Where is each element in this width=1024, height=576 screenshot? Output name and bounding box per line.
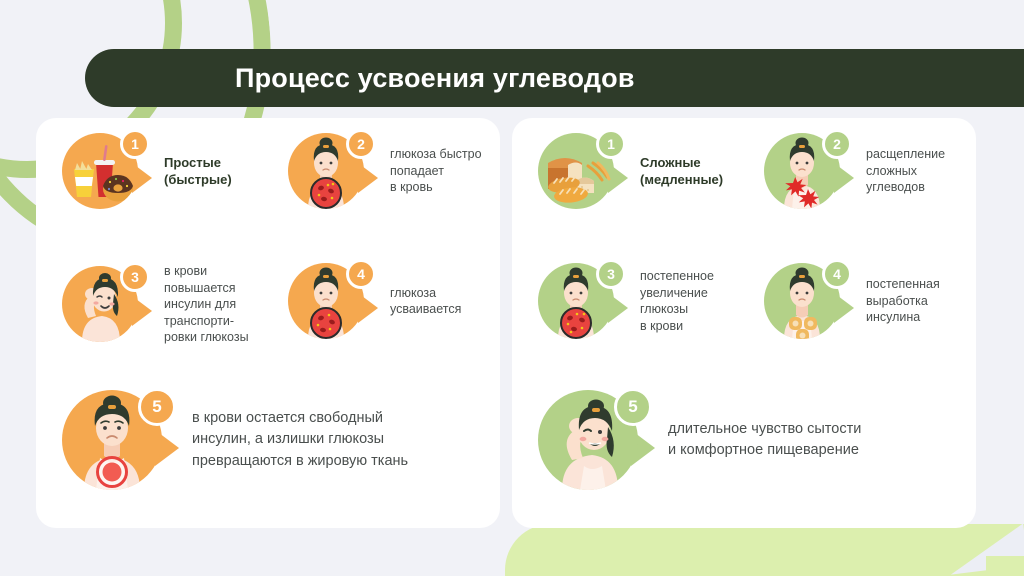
step-label: в крови повышается инсулин для транспорт… [164,263,249,346]
step-label: постепенное увеличение глюкозы в крови [640,268,714,334]
step-label: длительное чувство сытости и комфортное … [668,419,861,462]
step-number-badge: 2 [346,129,376,159]
step-complex-3: 3 постепенное увеличение глюкозы в крови [538,263,714,339]
step-label: расщепление сложных углеводов [866,146,945,196]
step-number-badge: 5 [614,388,652,426]
step-complex-2: 2 расщепление сложных углеводов [764,133,945,209]
step-icon-bubble: 1 [62,133,138,209]
page-title: Процесс усвоения углеводов [235,63,635,94]
title-banner: Процесс усвоения углеводов [85,49,1024,107]
step-icon-bubble: 2 [288,133,364,209]
step-icon-bubble: 3 [62,266,138,342]
step-simple-5: 5 в крови остается свободный инсулин, а … [62,390,408,490]
step-complex-4: 4 постепенная выработка инсулина [764,263,940,339]
step-label: Сложные (медленные) [640,154,723,188]
step-icon-bubble: 1 [538,133,614,209]
step-complex-1: 1 Сложные (медленные) [538,133,723,209]
step-icon-bubble: 2 [764,133,840,209]
step-number-badge: 4 [822,259,852,289]
step-simple-2: 2 глюкоза быстро попадает в кровь [288,133,482,209]
step-simple-1: 1 Простые (быстрые) [62,133,232,209]
step-icon-bubble: 3 [538,263,614,339]
step-icon-bubble: 5 [538,390,638,490]
step-number-badge: 3 [596,259,626,289]
step-number-badge: 5 [138,388,176,426]
step-number-badge: 3 [120,262,150,292]
step-number-badge: 1 [120,129,150,159]
step-simple-3: 3 в крови повышается инсулин для транспо… [62,263,249,346]
step-label: глюкоза быстро попадает в кровь [390,146,482,196]
step-icon-bubble: 4 [288,263,364,339]
step-icon-bubble: 4 [764,263,840,339]
step-number-badge: 4 [346,259,376,289]
step-complex-5: 5 длительное чувство сытости и комфортно… [538,390,861,490]
step-simple-4: 4 глюкоза усваивается [288,263,461,339]
step-label: Простые (быстрые) [164,154,232,188]
step-number-badge: 2 [822,129,852,159]
step-number-badge: 1 [596,129,626,159]
step-label: постепенная выработка инсулина [866,276,940,326]
infographic-canvas: Процесс усвоения углеводов [0,0,1024,576]
step-icon-bubble: 5 [62,390,162,490]
decorative-corner-bottom-right [986,556,1024,576]
step-label: глюкоза усваивается [390,285,461,318]
step-label: в крови остается свободный инсулин, а из… [192,408,408,472]
